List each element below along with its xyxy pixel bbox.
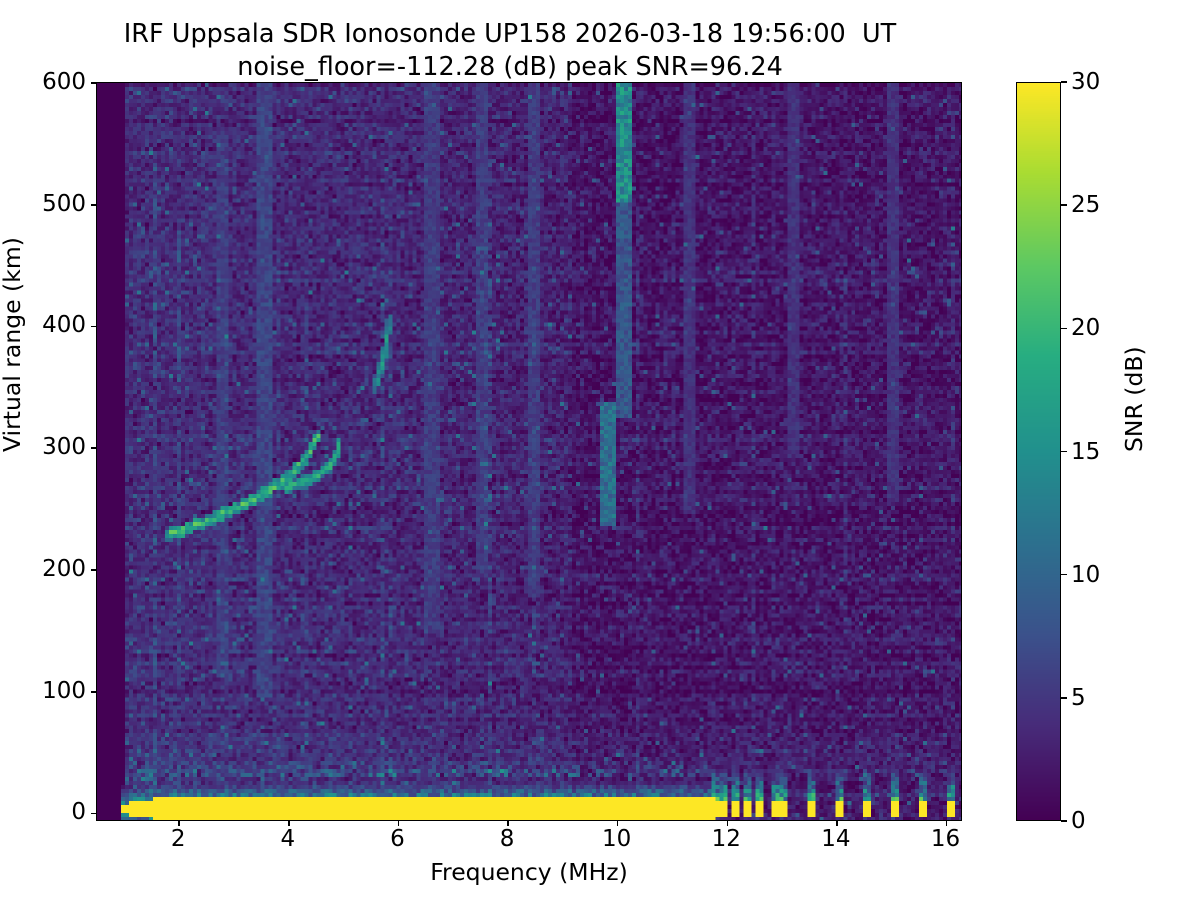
- colorbar-tick-label: 0: [1071, 808, 1086, 834]
- colorbar-tick-mark: [1061, 81, 1067, 83]
- y-tick-mark: [91, 569, 96, 571]
- y-tick-label: 400: [42, 312, 86, 338]
- colorbar-tick-mark: [1061, 328, 1067, 330]
- y-tick-label: 100: [42, 678, 86, 704]
- y-tick-mark: [91, 813, 96, 815]
- y-tick-mark: [91, 326, 96, 328]
- y-tick-mark: [91, 204, 96, 206]
- x-tick-label: 6: [390, 826, 405, 852]
- x-axis-title: Frequency (MHz): [96, 858, 962, 886]
- colorbar-tick-mark: [1061, 204, 1067, 206]
- y-tick-mark: [91, 691, 96, 693]
- x-axis-tick-labels: 246810121416: [96, 826, 962, 858]
- x-tick-label: 8: [500, 826, 515, 852]
- ionogram-heatmap-canvas: [97, 83, 961, 820]
- y-tick-mark: [91, 82, 96, 84]
- y-axis-title: Virtual range (km): [0, 237, 26, 452]
- colorbar-tick-label: 15: [1071, 439, 1100, 465]
- colorbar-tick-label: 25: [1071, 192, 1100, 218]
- title-line-secondary: noise_floor=-112.28 (dB) peak SNR=96.24: [0, 51, 1020, 84]
- x-tick-label: 10: [602, 826, 631, 852]
- y-tick-mark: [91, 447, 96, 449]
- colorbar: [1016, 82, 1061, 821]
- y-tick-label: 200: [42, 556, 86, 582]
- colorbar-tick-mark: [1061, 820, 1067, 822]
- colorbar-canvas: [1017, 83, 1060, 820]
- colorbar-tick-mark: [1061, 697, 1067, 699]
- title-line-primary: IRF Uppsala SDR Ionosonde UP158 2026-03-…: [0, 18, 1020, 51]
- y-tick-label: 0: [71, 799, 86, 825]
- colorbar-title: SNR (dB): [1120, 346, 1148, 452]
- x-tick-label: 4: [281, 826, 296, 852]
- x-tick-label: 12: [712, 826, 741, 852]
- y-tick-label: 300: [42, 434, 86, 460]
- x-tick-label: 16: [931, 826, 960, 852]
- y-tick-label: 500: [42, 191, 86, 217]
- x-tick-label: 14: [821, 826, 850, 852]
- colorbar-tick-label: 20: [1071, 315, 1100, 341]
- colorbar-tick-label: 30: [1071, 69, 1100, 95]
- x-tick-label: 2: [171, 826, 186, 852]
- colorbar-gradient: [1016, 82, 1061, 821]
- colorbar-tick-label: 5: [1071, 685, 1086, 711]
- colorbar-tick-label: 10: [1071, 562, 1100, 588]
- figure-title: IRF Uppsala SDR Ionosonde UP158 2026-03-…: [0, 18, 1020, 84]
- colorbar-tick-mark: [1061, 451, 1067, 453]
- ionogram-plot-area: [96, 82, 962, 821]
- y-tick-label: 600: [42, 69, 86, 95]
- ionogram-figure: IRF Uppsala SDR Ionosonde UP158 2026-03-…: [0, 0, 1200, 900]
- colorbar-tick-mark: [1061, 574, 1067, 576]
